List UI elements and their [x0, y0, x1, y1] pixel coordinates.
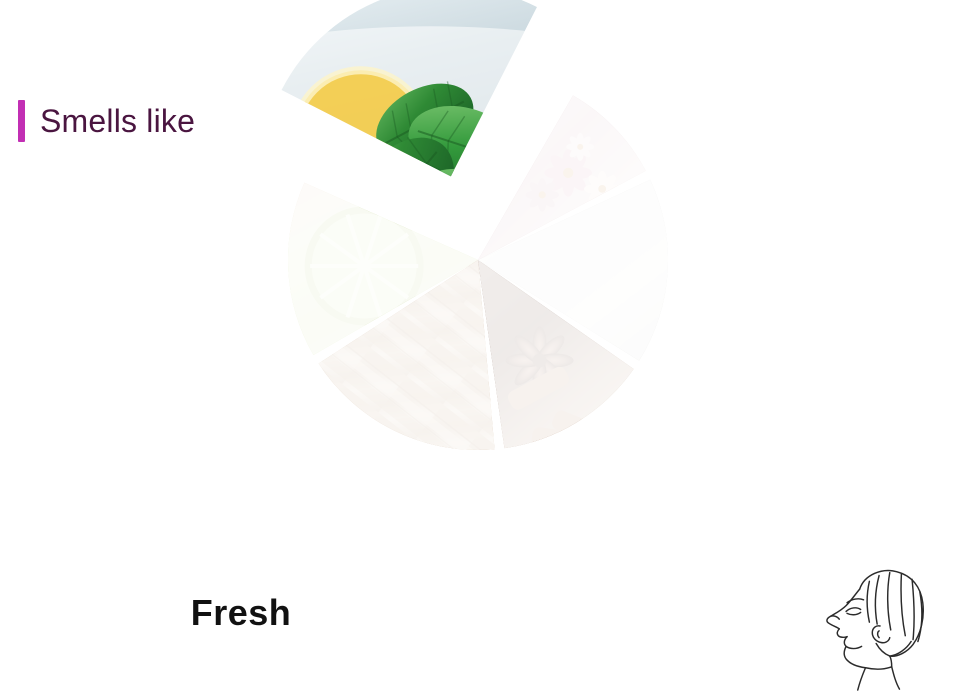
face-sniffing-profile-icon [814, 560, 950, 692]
